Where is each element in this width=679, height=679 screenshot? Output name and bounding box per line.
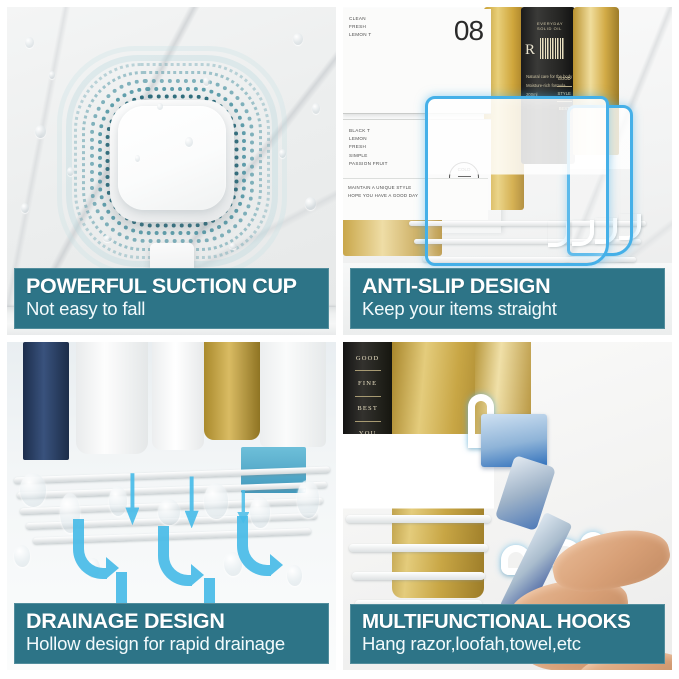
navy-bottle bbox=[23, 342, 69, 460]
caption-title: POWERFUL SUCTION CUP bbox=[26, 275, 317, 298]
panel-drainage: DRAINAGE DESIGN Hollow design for rapid … bbox=[7, 342, 336, 670]
list-item: LEMON bbox=[349, 135, 388, 143]
list-item: LEMON T bbox=[349, 31, 371, 39]
caption-title: DRAINAGE DESIGN bbox=[26, 610, 317, 633]
list-item: FRESH bbox=[349, 23, 371, 31]
caption-anti-slip: ANTI-SLIP DESIGN Keep your items straigh… bbox=[350, 268, 665, 330]
label-list-top: CLEAN FRESH LEMON T bbox=[349, 15, 371, 39]
list-item: HOPE YOU HAVE A GOOD DAY bbox=[348, 192, 418, 200]
label-list-low: MAINTAIN A UNIQUE STYLE HOPE YOU HAVE A … bbox=[348, 184, 418, 201]
label-list-mid: BLACK T LEMON FRESH SIMPLE PASSION FRUIT bbox=[349, 127, 388, 169]
panel-anti-slip: EVERYDAY SOLID OIL R Natural care for th… bbox=[343, 7, 672, 335]
shelf-basket bbox=[343, 434, 494, 611]
black-label-line: FINE bbox=[358, 380, 377, 387]
panel-suction-cup: POWERFUL SUCTION CUP Not easy to fall bbox=[7, 7, 336, 335]
list-item: SIMPLE bbox=[349, 152, 388, 160]
caption-subtitle: Not easy to fall bbox=[26, 299, 317, 320]
caption-hooks: MULTIFUNCTIONAL HOOKS Hang razor,loofah,… bbox=[350, 604, 665, 664]
list-item: CLEAN bbox=[349, 15, 371, 23]
white-bottle-1 bbox=[76, 342, 148, 454]
list-item: BLACK T bbox=[349, 127, 388, 135]
gold-bottle bbox=[204, 342, 260, 440]
white-bottle-2 bbox=[152, 342, 205, 450]
feature-collage: POWERFUL SUCTION CUP Not easy to fall EV… bbox=[0, 0, 679, 679]
caption-subtitle: Hollow design for rapid drainage bbox=[26, 634, 317, 655]
white-bottle-3 bbox=[260, 342, 326, 447]
anti-slip-highlight-box bbox=[425, 96, 609, 267]
suction-cup-face bbox=[118, 106, 226, 210]
caption-subtitle: Keep your items straight bbox=[362, 299, 653, 320]
dark-tag-0: GOOD bbox=[557, 76, 572, 81]
list-item: PASSION FRUIT bbox=[349, 160, 388, 168]
caption-subtitle: Hang razor,loofah,towel,etc bbox=[362, 634, 653, 655]
caption-title: MULTIFUNCTIONAL HOOKS bbox=[362, 611, 653, 633]
caption-suction-cup: POWERFUL SUCTION CUP Not easy to fall bbox=[14, 268, 329, 330]
barcode-icon bbox=[540, 38, 565, 58]
list-item: MAINTAIN A UNIQUE STYLE bbox=[348, 184, 418, 192]
black-label-line: BEST bbox=[357, 405, 378, 412]
dark-label-top-text: EVERYDAY SOLID OIL bbox=[537, 21, 575, 31]
panel-hooks: GOOD FINE BEST YOU MULTIFUNCTIONAL bbox=[343, 342, 672, 670]
list-item: FRESH bbox=[349, 143, 388, 151]
caption-drainage: DRAINAGE DESIGN Hollow design for rapid … bbox=[14, 603, 329, 665]
black-label-line: GOOD bbox=[356, 355, 380, 362]
caption-title: ANTI-SLIP DESIGN bbox=[362, 275, 653, 298]
dark-label-letter: R bbox=[525, 42, 535, 59]
label-number: 08 bbox=[454, 15, 483, 47]
